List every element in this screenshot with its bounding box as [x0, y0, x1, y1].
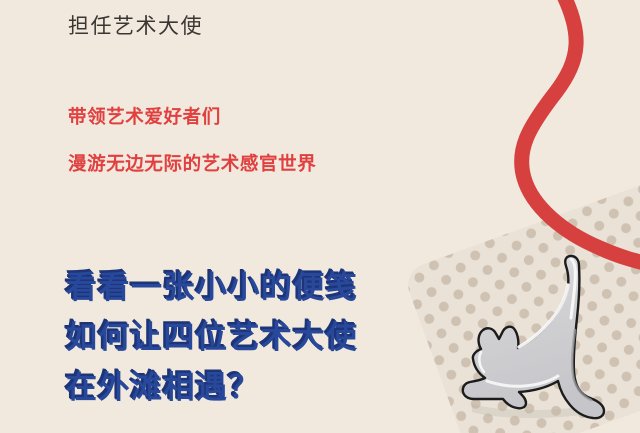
blue-headline-line-1: 看看一张小小的便笺: [66, 272, 359, 303]
red-subheading-block: 带领艺术爱好者们 漫游无边无际的艺术感官世界: [68, 108, 316, 173]
red-subheading-line-2: 漫游无边无际的艺术感官世界: [68, 155, 316, 174]
blue-headline-line-2: 如何让四位艺术大使: [66, 322, 359, 353]
red-subheading-line-1: 带领艺术爱好者们: [68, 108, 316, 127]
blue-headline-block: 看看一张小小的便笺 如何让四位艺术大使 在外滩相遇？: [66, 272, 359, 403]
blue-headline-line-3: 在外滩相遇？: [66, 372, 359, 403]
poster-canvas: 担任艺术大使 带领艺术爱好者们 漫游无边无际的艺术感官世界 看看一张小小的便笺 …: [0, 0, 640, 433]
eyebrow-heading: 担任艺术大使: [68, 14, 203, 40]
text-layer: 担任艺术大使 带领艺术爱好者们 漫游无边无际的艺术感官世界 看看一张小小的便笺 …: [0, 0, 640, 433]
